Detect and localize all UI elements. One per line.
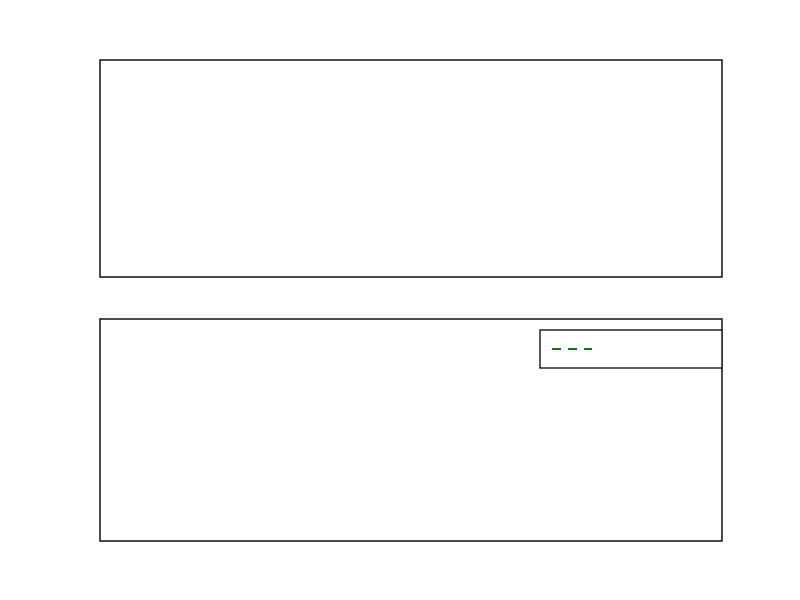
matplotlib-figure [0,0,800,600]
legend-box[interactable] [540,330,722,368]
legend-frame [540,330,722,368]
top-histogram-panel [100,60,722,277]
top-plot-area [100,60,722,277]
figure-canvas [0,0,800,600]
